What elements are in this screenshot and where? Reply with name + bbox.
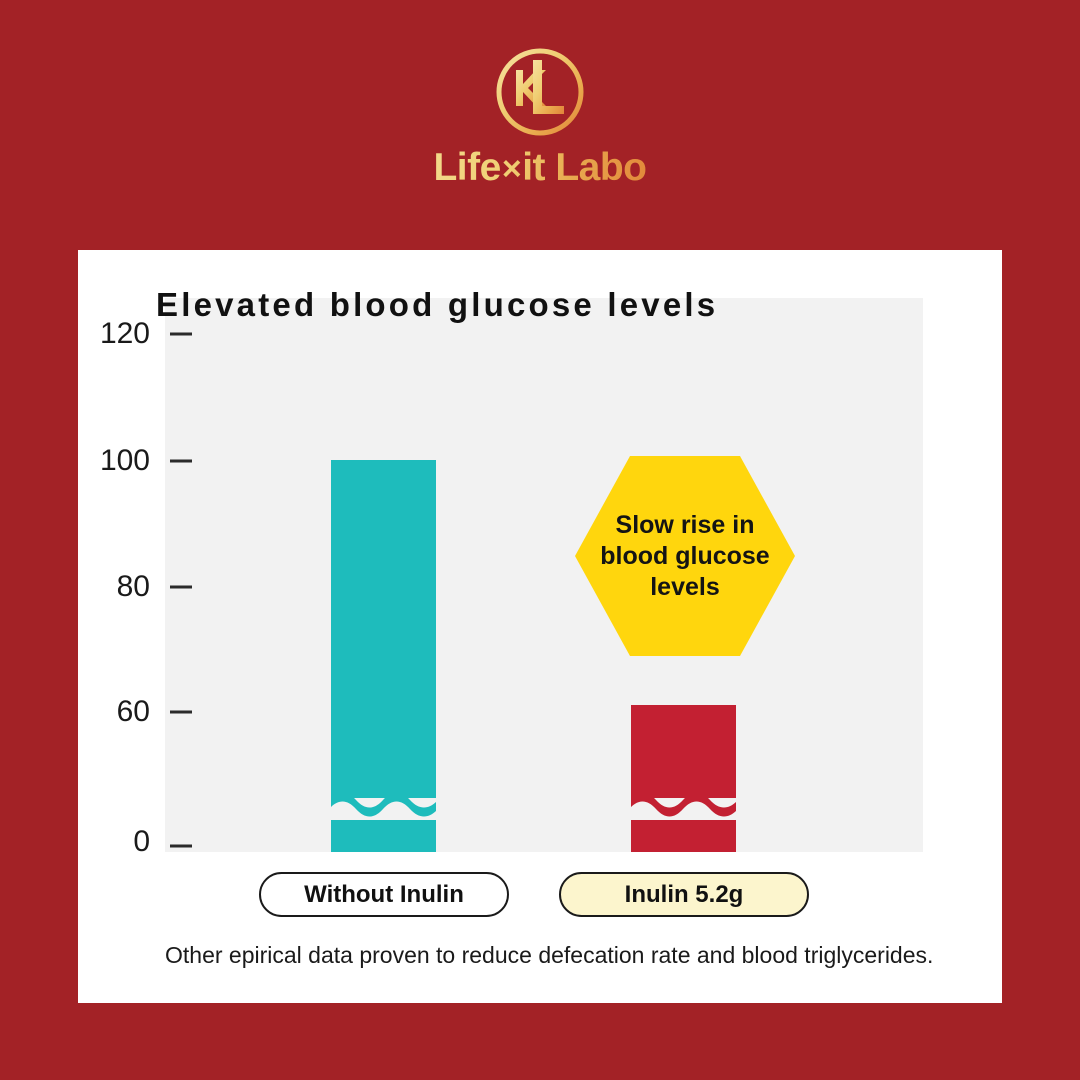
kl-monogram-circle-icon <box>486 44 594 142</box>
chart-title: Elevated blood glucose levels <box>156 286 718 324</box>
y-tick-label-0: 0 <box>133 825 150 859</box>
callout-line-2: blood glucose <box>600 541 770 572</box>
y-tick-label-60: 60 <box>117 695 150 729</box>
chart-card: Elevated blood glucose levels 120 100 80… <box>78 250 1002 1003</box>
callout-text: Slow rise in blood glucose levels <box>600 510 770 603</box>
category-pill-inulin-label: Inulin 5.2g <box>625 881 744 909</box>
axis-break-wave-icon <box>631 798 736 820</box>
callout-line-3: levels <box>600 572 770 603</box>
y-tick-mark-60 <box>170 711 192 714</box>
brand-name-separator: × <box>501 150 522 188</box>
y-tick-mark-80 <box>170 586 192 589</box>
axis-break-wave-icon <box>331 798 436 820</box>
y-tick-label-120: 120 <box>100 317 150 351</box>
y-tick-mark-100 <box>170 460 192 463</box>
y-tick-mark-0 <box>170 845 192 848</box>
y-tick-label-80: 80 <box>117 570 150 604</box>
y-tick-mark-120 <box>170 333 192 336</box>
brand-name-part2: it Labo <box>522 146 646 189</box>
brand-wordmark: Life×it Labo <box>433 148 646 187</box>
brand-name-part1: Life <box>433 146 500 189</box>
callout-line-1: Slow rise in <box>600 510 770 541</box>
plot-area <box>165 298 923 852</box>
y-tick-label-100: 100 <box>100 444 150 478</box>
category-pill-without-inulin-label: Without Inulin <box>304 881 464 909</box>
y-axis: 120 100 80 60 0 <box>78 250 150 1003</box>
bar-without-inulin[interactable] <box>331 460 436 852</box>
brand-header: Life×it Labo <box>0 44 1080 204</box>
category-pill-without-inulin[interactable]: Without Inulin <box>259 872 509 917</box>
chart-footnote: Other epirical data proven to reduce def… <box>165 942 965 969</box>
category-pill-inulin[interactable]: Inulin 5.2g <box>559 872 809 917</box>
bar-inulin[interactable] <box>631 705 736 852</box>
